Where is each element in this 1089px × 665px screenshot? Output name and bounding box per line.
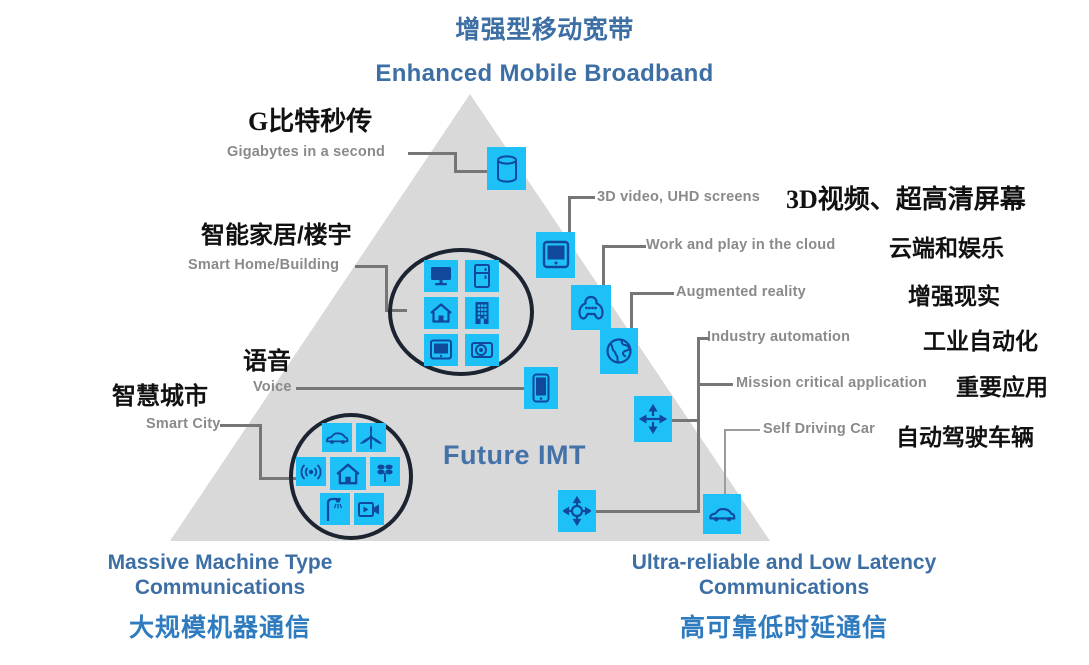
top-heading-cn: 增强型移动宽带: [0, 10, 1089, 46]
mmtc-en-line2: Communications: [50, 575, 390, 600]
solar-panel-icon: [373, 461, 397, 483]
connector-smart-city-seg1: [220, 424, 262, 427]
move-arrows-icon: [639, 404, 667, 434]
apartment-building-icon: [473, 301, 491, 325]
callout-mission-cn: 重要应用: [956, 368, 1048, 402]
street-lamp-icon: [324, 496, 346, 522]
house-icon-tile-city[interactable]: [330, 457, 366, 490]
wind-turbine-icon-tile[interactable]: [356, 423, 386, 452]
crosshair-icon-tile[interactable]: [558, 490, 596, 532]
callout-smart-home-cn: 智能家居/楼宇: [201, 215, 352, 250]
callout-ar-en: Augmented reality: [676, 284, 806, 300]
connector-self-driving-seg2: [724, 429, 726, 495]
callout-3d-video-en: 3D video, UHD screens: [597, 189, 760, 205]
urllc-en-line2: Communications: [588, 575, 980, 600]
connector-smart-city-seg2: [259, 424, 262, 480]
urllc-cn: 高可靠低时延通信: [588, 608, 980, 644]
smartphone-icon: [531, 373, 551, 403]
globe-icon-tile[interactable]: [600, 328, 638, 374]
car-icon-tile[interactable]: [322, 423, 352, 452]
callout-gigabytes-en: Gigabytes in a second: [227, 144, 385, 160]
connector-gigabytes-seg3: [454, 170, 487, 173]
car-icon: [708, 506, 736, 523]
car-icon-tile-sdc[interactable]: [703, 494, 741, 534]
connector-voice-seg1: [296, 387, 525, 390]
database-icon: [494, 154, 520, 184]
mmtc-cn: 大规模机器通信: [50, 608, 390, 644]
urllc-en-line1: Ultra-reliable and Low Latency: [588, 550, 980, 575]
desktop-monitor-icon-tile[interactable]: [424, 260, 458, 292]
tablet-icon-tile[interactable]: [424, 334, 458, 366]
car-icon: [325, 431, 349, 445]
connector-mission-seg3: [596, 510, 700, 513]
connector-ar-seg1: [630, 292, 674, 295]
database-icon-tile[interactable]: [487, 147, 526, 190]
connector-self-driving-seg1: [724, 429, 760, 431]
bottom-left-heading: Massive Machine Type Communications 大规模机…: [50, 550, 390, 644]
bottom-right-heading: Ultra-reliable and Low Latency Communica…: [588, 550, 980, 644]
connector-mission-seg2: [697, 383, 700, 513]
connector-3d-video-seg1: [568, 196, 595, 199]
globe-icon: [605, 337, 633, 365]
infographic-canvas: 增强型移动宽带 Enhanced Mobile Broadband Massiv…: [0, 0, 1089, 665]
street-lamp-icon-tile[interactable]: [320, 493, 350, 525]
webcam-icon: [470, 340, 494, 360]
refrigerator-icon-tile[interactable]: [465, 260, 499, 292]
connector-mission-seg1: [697, 383, 733, 386]
callout-mission-en: Mission critical application: [736, 375, 927, 391]
house-icon-tile[interactable]: [424, 297, 458, 329]
connector-smart-home-seg1: [355, 265, 388, 268]
tablet-icon: [429, 339, 453, 361]
video-camera-icon: [357, 499, 381, 519]
smart-home-cluster-icon: [401, 258, 521, 368]
webcam-icon-tile[interactable]: [465, 334, 499, 366]
tv-monitor-icon-tile[interactable]: [536, 232, 575, 278]
callout-cloud-en: Work and play in the cloud: [646, 237, 835, 253]
smart-city-cluster-icon: [296, 423, 406, 531]
callout-self-driving-en: Self Driving Car: [763, 421, 875, 437]
gamepad-icon-tile[interactable]: [571, 285, 611, 330]
wireless-signal-icon-tile[interactable]: [296, 457, 326, 486]
move-arrows-icon-tile[interactable]: [634, 396, 672, 442]
callout-ar-cn: 增强现实: [908, 277, 1000, 311]
house-icon: [429, 302, 453, 324]
gamepad-icon: [576, 293, 606, 323]
callout-voice-en: Voice: [253, 379, 292, 395]
solar-panel-icon-tile[interactable]: [370, 457, 400, 486]
crosshair-icon: [563, 496, 591, 526]
refrigerator-icon: [473, 264, 491, 288]
apartment-building-icon-tile[interactable]: [465, 297, 499, 329]
future-imt-label: Future IMT: [443, 440, 586, 471]
tv-monitor-icon: [542, 240, 570, 270]
desktop-monitor-icon: [429, 265, 453, 287]
connector-cloud-seg1: [602, 245, 646, 248]
wind-turbine-icon: [360, 426, 382, 450]
callout-3d-video-cn: 3D视频、超高清屏幕: [786, 179, 1026, 216]
house-icon: [335, 462, 361, 486]
video-camera-icon-tile[interactable]: [354, 493, 384, 525]
callout-smart-city-en: Smart City: [146, 416, 221, 432]
callout-smart-city-cn: 智慧城市: [112, 376, 208, 411]
wireless-signal-icon: [299, 463, 323, 481]
callout-voice-cn: 语音: [243, 341, 291, 376]
callout-industry-cn: 工业自动化: [923, 322, 1038, 356]
connector-3d-video-seg2: [568, 196, 571, 234]
callout-industry-en: Industry automation: [707, 329, 850, 345]
top-heading-en: Enhanced Mobile Broadband: [0, 60, 1089, 88]
connector-gigabytes-seg1: [408, 152, 457, 155]
connector-industry-seg3: [670, 419, 700, 422]
callout-cloud-cn: 云端和娱乐: [889, 229, 1004, 263]
callout-smart-home-en: Smart Home/Building: [188, 257, 339, 273]
callout-gigabytes-cn: G比特秒传: [248, 101, 372, 138]
smartphone-icon-tile[interactable]: [524, 367, 558, 409]
mmtc-en-line1: Massive Machine Type: [50, 550, 390, 575]
callout-self-driving-cn: 自动驾驶车辆: [896, 418, 1034, 452]
